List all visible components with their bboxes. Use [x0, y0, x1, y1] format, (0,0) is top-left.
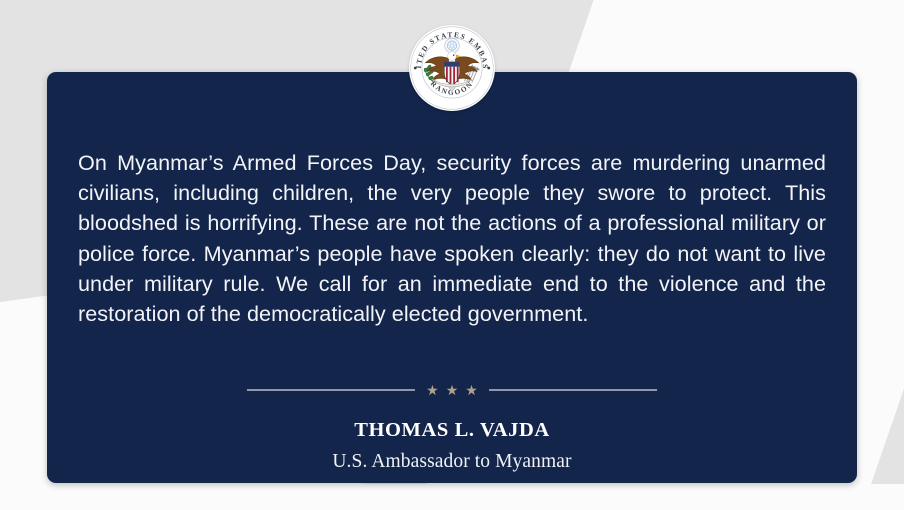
star-icon-2: ★: [446, 383, 459, 397]
divider-rule-left: [247, 389, 415, 391]
signer-title: U.S. Ambassador to Myanmar: [47, 449, 857, 475]
star-divider: ★ ★ ★: [47, 383, 857, 397]
signer-name: THOMAS L. VAJDA: [47, 417, 857, 443]
signature-block: THOMAS L. VAJDA U.S. Ambassador to Myanm…: [47, 417, 857, 475]
star-icon-3: ★: [465, 383, 478, 397]
divider-stars: ★ ★ ★: [426, 383, 478, 397]
background-bottom-strip: [0, 484, 904, 510]
us-embassy-rangoon-seal-icon: UNITED STATES EMBASSY RANGOON: [409, 25, 495, 111]
star-icon-1: ★: [426, 383, 439, 397]
divider-rule-right: [489, 389, 657, 391]
statement-card: On Myanmar’s Armed Forces Day, security …: [47, 72, 857, 483]
statement-text: On Myanmar’s Armed Forces Day, security …: [78, 148, 826, 329]
